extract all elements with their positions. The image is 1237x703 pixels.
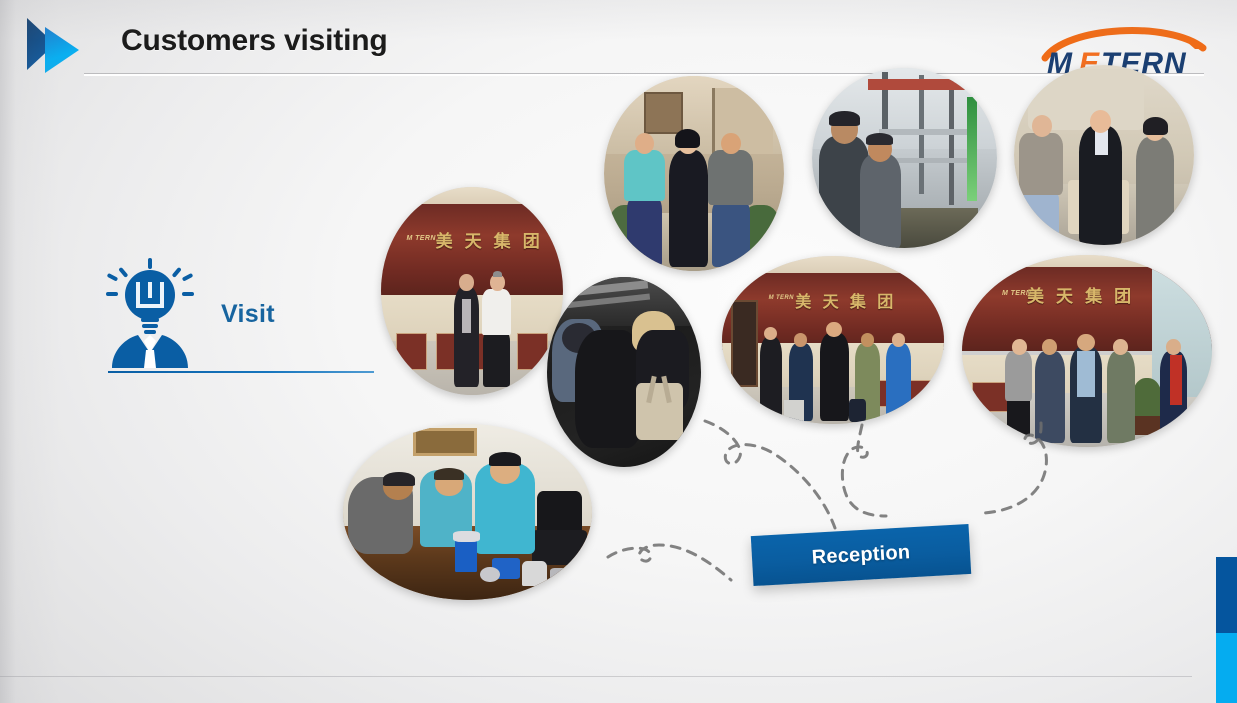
visit-underline bbox=[108, 371, 374, 373]
visit-block: Visit bbox=[104, 258, 374, 376]
lightbulb-head-person-icon bbox=[104, 258, 196, 368]
photo-three-visitors-hotel-lobby bbox=[604, 76, 784, 271]
page-title: Customers visiting bbox=[121, 24, 387, 58]
photo-lobby-two-people: M TERN 美 天 集 团 bbox=[381, 187, 563, 395]
photo-sign-text: 美 天 集 团 bbox=[1027, 282, 1134, 307]
visit-label: Visit bbox=[221, 300, 275, 329]
photo-group-of-five-lobby: M TERN 美 天 集 团 bbox=[722, 256, 944, 424]
slide-canvas: Customers visiting M E TERN M TERN 美 天 集… bbox=[0, 0, 1237, 703]
photo-sign-text: 美 天 集 团 bbox=[795, 288, 896, 312]
photo-product-demo-table bbox=[343, 424, 592, 600]
photo-three-visitors-winter-coats bbox=[1014, 65, 1194, 245]
accent-bar-top bbox=[1216, 557, 1237, 633]
photo-sign-text: 美 天 集 团 bbox=[436, 227, 543, 252]
reception-label: Reception bbox=[811, 541, 911, 569]
slide-logo-mark bbox=[27, 18, 85, 73]
bottom-divider bbox=[0, 676, 1192, 677]
photo-two-men-inspecting-equipment bbox=[812, 68, 997, 248]
photo-sign-logo: M TERN bbox=[406, 235, 435, 242]
reception-banner: Reception bbox=[751, 524, 971, 586]
accent-edge-bar bbox=[1216, 557, 1237, 703]
accent-bar-bottom bbox=[1216, 633, 1237, 703]
triangle-front-icon bbox=[45, 27, 79, 73]
photo-group-of-five-lobby-winter: M TERN 美 天 集 团 bbox=[962, 255, 1212, 447]
photo-sign-logo: M TERN bbox=[769, 295, 794, 301]
